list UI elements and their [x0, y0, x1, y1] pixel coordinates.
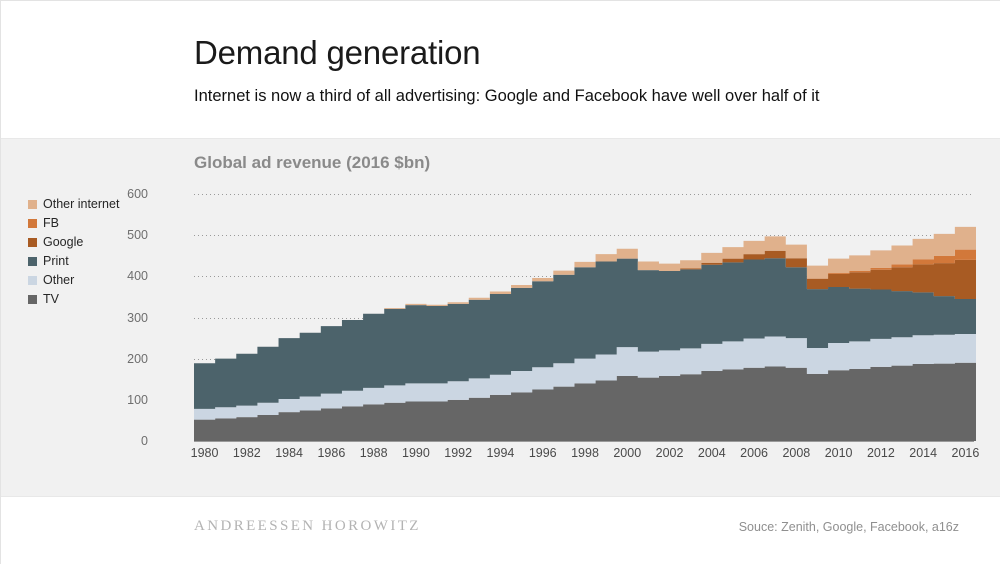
page-subtitle: Internet is now a third of all advertisi…	[194, 87, 820, 106]
x-axis-tick-label: 1994	[487, 446, 515, 460]
x-axis-labels: 1980198219841986198819901992199419961998…	[194, 446, 976, 468]
page-title: Demand generation	[194, 34, 480, 72]
x-axis-tick-label: 2008	[782, 446, 810, 460]
x-axis-tick-label: 1988	[360, 446, 388, 460]
legend-item-label: FB	[43, 217, 59, 230]
chart-title: Global ad revenue (2016 $bn)	[194, 153, 430, 173]
x-axis-tick-label: 1998	[571, 446, 599, 460]
x-axis-tick-label: 2002	[656, 446, 684, 460]
stacked-area-chart	[194, 194, 976, 441]
x-axis-tick-label: 1990	[402, 446, 430, 460]
legend-swatch-icon	[28, 238, 37, 247]
y-axis-tick-label: 300	[127, 311, 148, 325]
x-axis-tick-label: 1992	[444, 446, 472, 460]
y-axis-tick-label: 100	[127, 393, 148, 407]
legend-item-label: Other internet	[43, 198, 119, 211]
y-axis-tick-label: 0	[141, 434, 148, 448]
x-axis-tick-label: 2012	[867, 446, 895, 460]
slide-footer: ANDREESSEN HOROWITZ Souce: Zenith, Googl…	[1, 497, 1000, 564]
slide-header: Demand generation Internet is now a thir…	[1, 1, 1000, 138]
legend-swatch-icon	[28, 276, 37, 285]
legend-item-label: Print	[43, 255, 69, 268]
x-axis-tick-label: 2014	[909, 446, 937, 460]
x-axis-tick-label: 1980	[191, 446, 219, 460]
legend-item-label: Other	[43, 274, 74, 287]
x-axis-tick-label: 2004	[698, 446, 726, 460]
y-axis-tick-label: 500	[127, 228, 148, 242]
legend-swatch-icon	[28, 219, 37, 228]
plot-area: 0100200300400500600 19801982198419861988…	[156, 194, 976, 454]
y-axis-tick-label: 600	[127, 187, 148, 201]
x-axis-tick-label: 1982	[233, 446, 261, 460]
x-axis-tick-label: 1984	[275, 446, 303, 460]
legend-swatch-icon	[28, 200, 37, 209]
x-axis-tick-label: 1986	[317, 446, 345, 460]
x-axis-line	[194, 441, 974, 442]
y-axis-tick-label: 400	[127, 269, 148, 283]
slide-canvas: Demand generation Internet is now a thir…	[0, 0, 1000, 564]
y-axis-tick-label: 200	[127, 352, 148, 366]
source-note: Souce: Zenith, Google, Facebook, a16z	[739, 520, 959, 534]
legend-swatch-icon	[28, 257, 37, 266]
x-axis-tick-label: 2000	[613, 446, 641, 460]
x-axis-tick-label: 1996	[529, 446, 557, 460]
x-axis-tick-label: 2006	[740, 446, 768, 460]
chart-panel: Global ad revenue (2016 $bn) Other inter…	[1, 138, 1000, 497]
x-axis-tick-label: 2010	[825, 446, 853, 460]
brand-logo: ANDREESSEN HOROWITZ	[194, 518, 421, 535]
legend-item-label: TV	[43, 293, 59, 306]
legend-swatch-icon	[28, 295, 37, 304]
x-axis-tick-label: 2016	[952, 446, 980, 460]
legend-item-label: Google	[43, 236, 83, 249]
